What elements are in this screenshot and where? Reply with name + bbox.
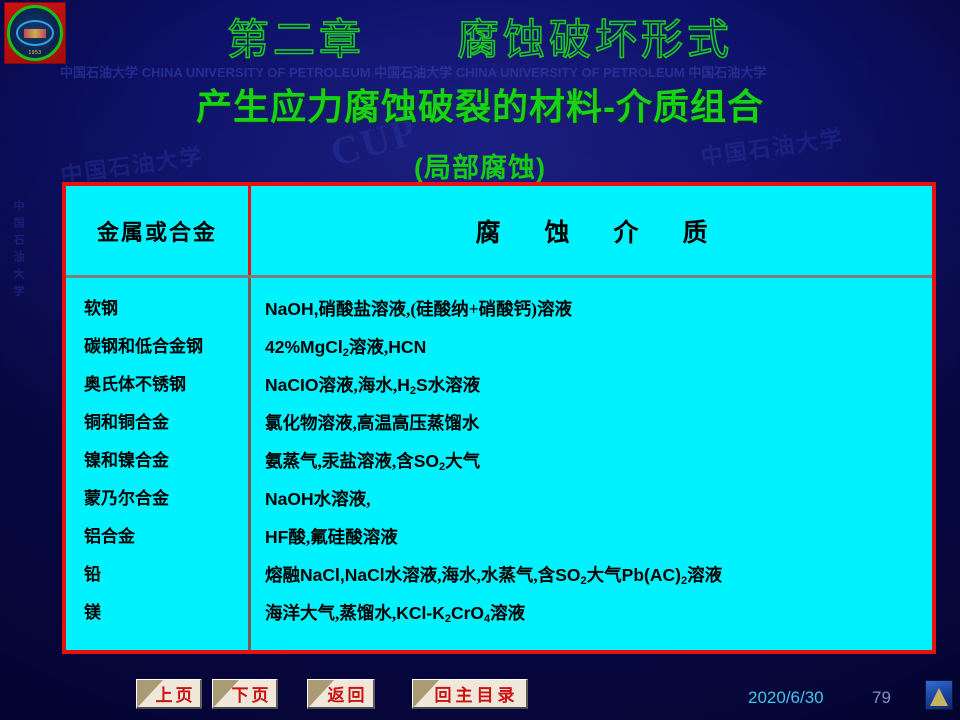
table-header-medium-label: 腐蚀介质	[431, 213, 751, 249]
page-number: 79	[872, 688, 891, 708]
table-row: 铅	[84, 556, 248, 594]
table-header-medium-cell: 腐蚀介质	[251, 186, 932, 275]
back-button[interactable]: 返回	[307, 679, 375, 709]
table-row: 碳钢和低合金钢	[84, 328, 248, 366]
slide-canvas: 中国石油大学 CHINA UNIVERSITY OF PETROLEUM 中国石…	[0, 0, 960, 720]
table-row: NaOH,硝酸盐溶液,(硅酸纳+硝酸钙)溶液	[265, 290, 932, 328]
table-row: 奥氏体不锈钢	[84, 366, 248, 404]
table-row: 42%MgCl2溶液,HCN	[265, 328, 932, 366]
prev-page-label: 上页	[142, 681, 196, 706]
trophy-icon	[925, 680, 953, 710]
main-menu-label: 回主目录	[421, 681, 519, 706]
table-body: 软钢碳钢和低合金钢奥氏体不锈钢铜和铜合金镍和镍合金蒙乃尔合金铝合金铅镁 NaOH…	[66, 278, 932, 650]
slide-subtitle: 产生应力腐蚀破裂的材料-介质组合	[0, 78, 960, 130]
table-row: 铜和铜合金	[84, 404, 248, 442]
table-row: NaOH水溶液,	[265, 480, 932, 518]
table-header-metal-cell: 金属或合金	[66, 186, 251, 275]
table-column-medium: NaOH,硝酸盐溶液,(硅酸纳+硝酸钙)溶液42%MgCl2溶液,HCNNaCI…	[251, 278, 932, 650]
table-header-metal-label: 金属或合金	[97, 215, 217, 247]
back-label: 返回	[314, 681, 368, 706]
table-row: 熔融NaCl,NaCl水溶液,海水,水蒸气,含SO2大气Pb(AC)2溶液	[265, 556, 932, 594]
table-row: 镁	[84, 594, 248, 632]
trophy-glyph	[930, 688, 948, 706]
table-column-metal: 软钢碳钢和低合金钢奥氏体不锈钢铜和铜合金镍和镍合金蒙乃尔合金铝合金铅镁	[66, 278, 251, 650]
table-row: 铝合金	[84, 518, 248, 556]
main-menu-button[interactable]: 回主目录	[412, 679, 528, 709]
corrosion-table: 金属或合金 腐蚀介质 软钢碳钢和低合金钢奥氏体不锈钢铜和铜合金镍和镍合金蒙乃尔合…	[62, 182, 936, 654]
next-page-label: 下页	[218, 681, 272, 706]
prev-page-button[interactable]: 上页	[136, 679, 202, 709]
next-page-button[interactable]: 下页	[212, 679, 278, 709]
table-row: 氯化物溶液,高温高压蒸馏水	[265, 404, 932, 442]
slide-parenthetical: (局部腐蚀)	[0, 146, 960, 185]
table-row: 蒙乃尔合金	[84, 480, 248, 518]
table-header-row: 金属或合金 腐蚀介质	[66, 186, 932, 278]
slide-date: 2020/6/30	[748, 688, 824, 708]
chapter-title: 第二章 腐蚀破坏形式	[0, 6, 960, 67]
table-row: 镍和镍合金	[84, 442, 248, 480]
table-row: 氨蒸气,汞盐溶液,含SO2大气	[265, 442, 932, 480]
table-row: 软钢	[84, 290, 248, 328]
table-row: NaCIO溶液,海水,H2S水溶液	[265, 366, 932, 404]
table-row: HF酸,氟硅酸溶液	[265, 518, 932, 556]
table-row: 海洋大气,蒸馏水,KCl-K2CrO4溶液	[265, 594, 932, 632]
